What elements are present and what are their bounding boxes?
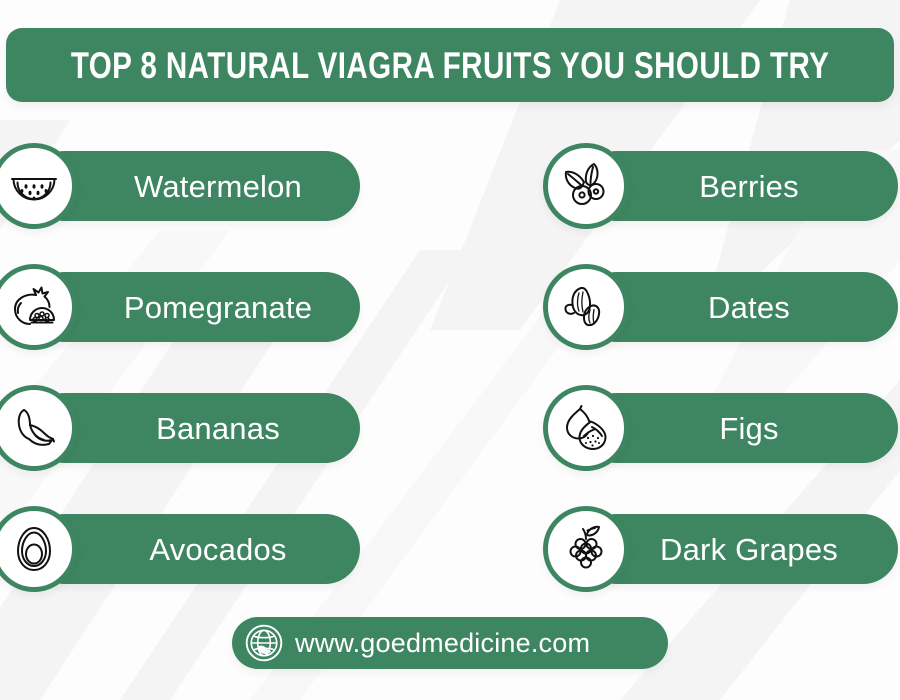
background-texture — [0, 0, 900, 700]
list-item-label: Bananas — [30, 413, 360, 444]
watermelon-icon — [8, 160, 60, 212]
item-pill[interactable]: Watermelon — [30, 151, 360, 221]
item-pill[interactable]: Pomegranate — [30, 272, 360, 342]
dates-icon — [560, 281, 612, 333]
list-item-label: Dark Grapes — [582, 534, 898, 565]
footer-website-pill[interactable]: www.goedmedicine.com — [232, 617, 668, 669]
list-item-label: Pomegranate — [30, 292, 360, 323]
avocado-icon — [8, 523, 60, 575]
infographic-canvas: TOP 8 NATURAL VIAGRA FRUITS YOU SHOULD T… — [0, 0, 900, 700]
item-pill[interactable]: Figs — [582, 393, 898, 463]
list-item-label: Figs — [582, 413, 898, 444]
item-icon-circle — [543, 385, 629, 471]
footer-url-text: www.goedmedicine.com — [295, 630, 590, 657]
figs-icon — [560, 402, 612, 454]
item-pill[interactable]: Dark Grapes — [582, 514, 898, 584]
list-item-label: Avocados — [30, 534, 360, 565]
berries-icon — [560, 160, 612, 212]
item-pill[interactable]: Bananas — [30, 393, 360, 463]
banana-icon — [8, 402, 60, 454]
item-icon-circle — [543, 506, 629, 592]
item-icon-circle — [543, 143, 629, 229]
globe-icon — [245, 624, 283, 662]
list-item-label: Berries — [582, 171, 898, 202]
header-banner: TOP 8 NATURAL VIAGRA FRUITS YOU SHOULD T… — [6, 28, 894, 102]
item-pill[interactable]: Dates — [582, 272, 898, 342]
grapes-icon — [560, 523, 612, 575]
page-title: TOP 8 NATURAL VIAGRA FRUITS YOU SHOULD T… — [71, 47, 830, 84]
list-item-label: Dates — [582, 292, 898, 323]
item-icon-circle — [543, 264, 629, 350]
pomegranate-icon — [8, 281, 60, 333]
item-pill[interactable]: Berries — [582, 151, 898, 221]
item-pill[interactable]: Avocados — [30, 514, 360, 584]
list-item-label: Watermelon — [30, 171, 360, 202]
